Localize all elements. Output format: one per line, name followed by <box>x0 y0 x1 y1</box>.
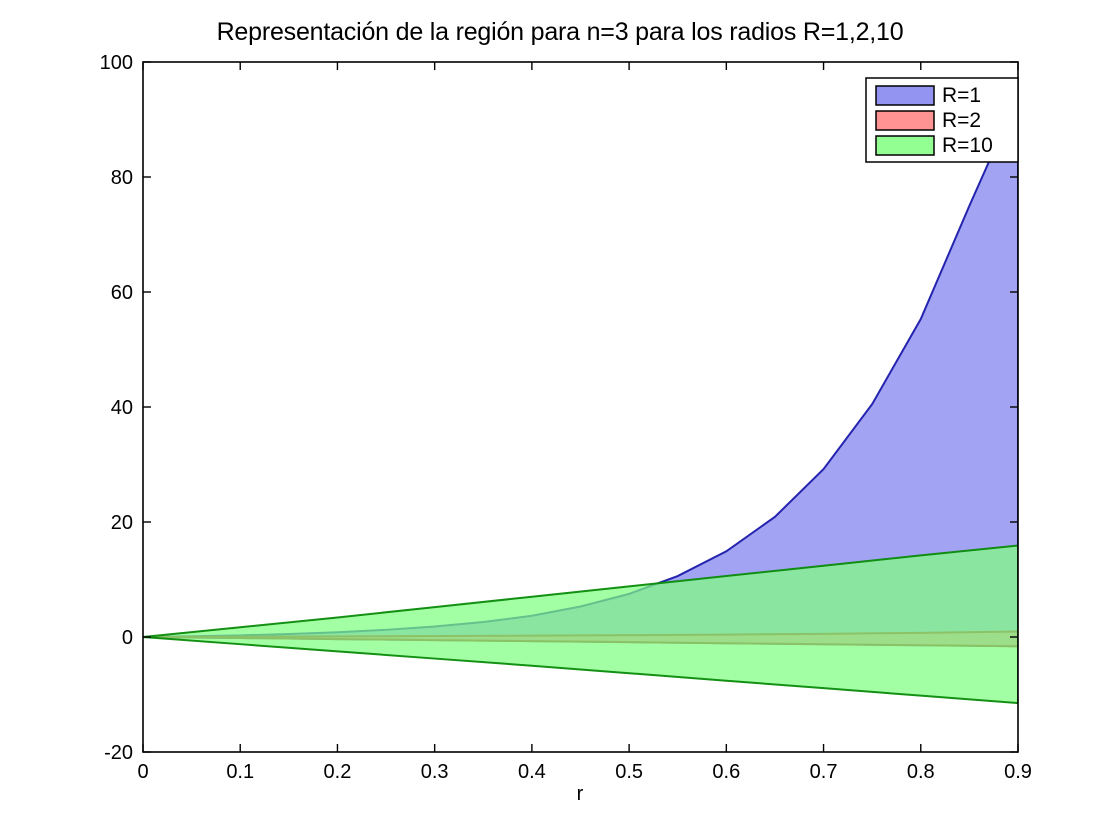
x-tick-label: 0.8 <box>907 761 935 783</box>
x-tick-label: 0.6 <box>712 761 740 783</box>
y-tick-label: 60 <box>111 282 133 304</box>
y-tick-label: 80 <box>111 167 133 189</box>
legend-label-r2: R=2 <box>942 109 981 132</box>
x-tick-label: 0.4 <box>518 761 546 783</box>
legend-items: R=1R=2R=10 <box>876 84 993 157</box>
x-tick-label: 0.5 <box>615 761 643 783</box>
y-tick-label: 40 <box>111 397 133 419</box>
legend: R=1R=2R=10 <box>866 78 1018 162</box>
x-tick-label: 0.3 <box>421 761 449 783</box>
plot-canvas: 00.10.20.30.40.50.60.70.80.9 -2002040608… <box>0 0 1120 840</box>
x-tick-label: 0.9 <box>1004 761 1032 783</box>
x-axis-title: r <box>577 783 584 805</box>
x-tick-label: 0 <box>137 761 148 783</box>
x-tick-label: 0.1 <box>226 761 254 783</box>
y-tick-label: -20 <box>104 742 133 764</box>
y-tick-label: 20 <box>111 512 133 534</box>
legend-swatch-r10 <box>876 136 934 155</box>
legend-label-r1: R=1 <box>942 84 981 107</box>
figure-container: Representación de la región para n=3 par… <box>0 0 1120 840</box>
x-tick-label: 0.2 <box>324 761 352 783</box>
legend-swatch-r1 <box>876 86 934 105</box>
y-tick-label: 0 <box>122 627 133 649</box>
x-tick-label: 0.7 <box>810 761 838 783</box>
legend-label-r10: R=10 <box>942 134 993 157</box>
legend-swatch-r2 <box>876 111 934 130</box>
y-tick-label: 100 <box>100 52 133 74</box>
